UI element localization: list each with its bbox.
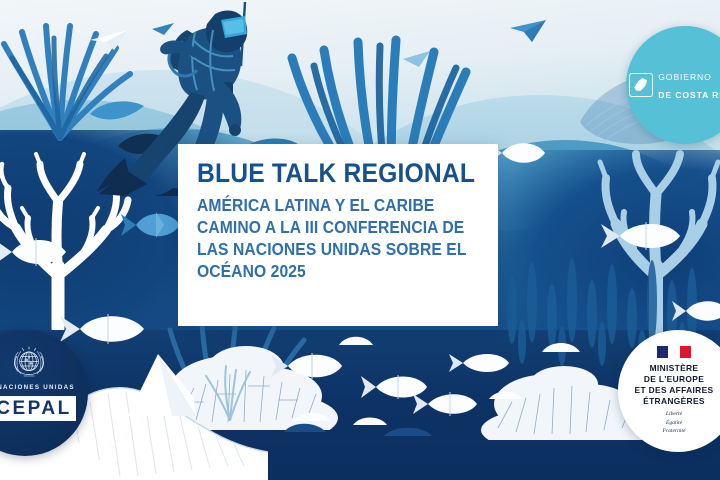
title-card: BLUE TALK REGIONAL AMÉRICA LATINA Y EL C… [178,144,498,326]
poster-subtitle-line-1: AMÉRICA LATINA Y EL CARIBE [197,194,454,216]
paper-rock-white-icon [128,348,198,418]
un-caption: NACIONES UNIDAS [0,384,86,391]
fish-dark-floor-1 [280,416,330,434]
france-motto-1: Liberté [614,410,720,418]
poster-subtitle-line-4: OCÉANO 2025 [197,260,454,282]
poster-canvas: BLUE TALK REGIONAL AMÉRICA LATINA Y EL C… [0,0,720,480]
france-motto-3: Fraternité [614,427,720,435]
cepal-wordmark: CEPAL [0,396,76,421]
france-motto-2: Égalité [614,419,720,427]
costa-rica-label-line-2: DE COSTA RICA [658,90,720,100]
logo-france-ministry: MINISTÈRE DE L'EUROPE ET DES AFFAIRES ÉT… [618,330,720,452]
fish-white-right-mid [598,216,684,256]
fish-white-bottom-6 [336,330,376,348]
cepal-text: CEPAL [0,398,72,420]
fish-white-bottom-4 [446,348,512,378]
logo-un-cepal: NACIONES UNIDAS CEPAL [0,330,88,456]
fish-white-right-lower [670,296,720,326]
french-flag-icon [657,346,691,358]
poster-subtitle-line-2: CAMINO A LA III CONFERENCIA DE [197,216,454,238]
fish-white-bottom-9 [486,386,526,402]
france-line-3: ET DES AFFAIRES [614,385,720,396]
fish-white-bottom-5 [538,336,584,356]
fish-dark-floor-2 [380,420,436,438]
france-line-2: DE L'EUROPE [614,374,720,385]
un-globe-laurel-icon [9,344,49,384]
france-line-1: MINISTÈRE [614,363,720,374]
poster-subtitle-line-3: LAS NACIONES UNIDAS SOBRE EL [197,238,454,260]
costa-rica-label-line-1: GOBIERNO [658,72,712,82]
fish-white-bottom-1 [268,348,346,384]
fish-blue-left [118,208,184,242]
paper-fish-sky-right [508,18,550,44]
fish-white-bottom-3 [410,388,480,420]
paper-fish-sky-small [402,48,432,68]
france-line-4: ÉTRANGÈRES [614,396,720,407]
fish-white-upper-left [0,232,70,272]
poster-title: BLUE TALK REGIONAL [197,160,462,187]
costa-rica-map-icon [629,73,653,97]
